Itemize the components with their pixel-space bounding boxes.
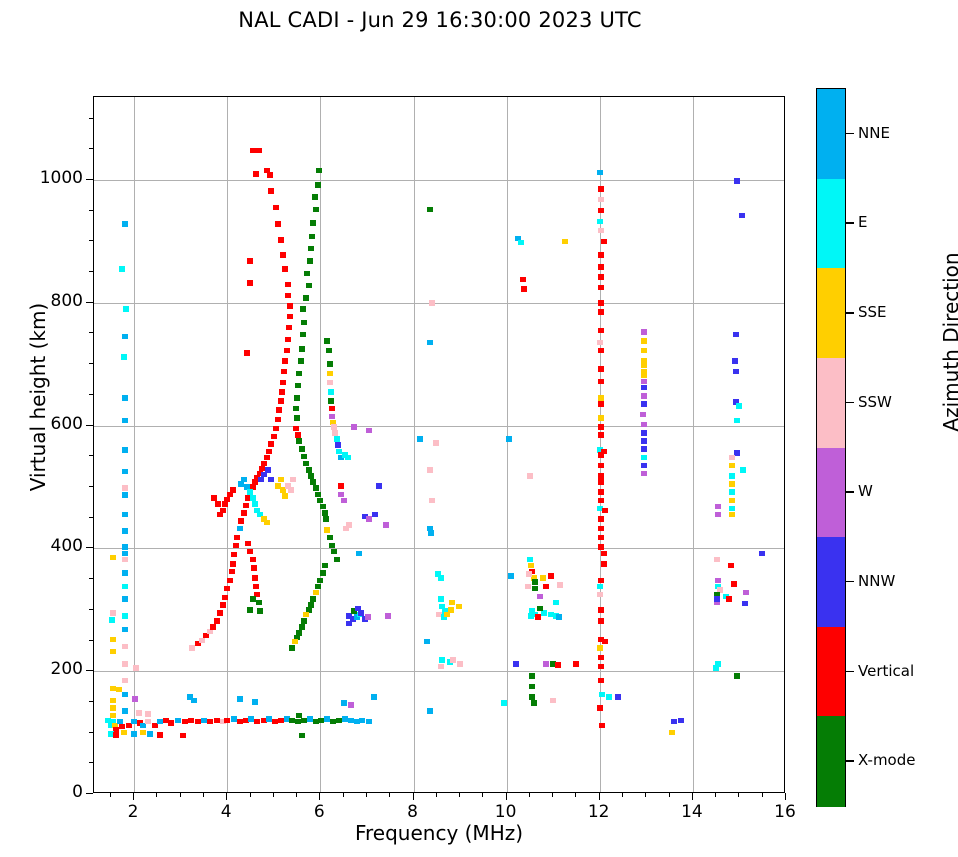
data-point (247, 489, 253, 495)
data-point (641, 379, 647, 385)
x-tick-major (226, 793, 227, 800)
data-point (122, 644, 128, 650)
colorbar (816, 88, 846, 807)
colorbar-segment-ssw[interactable] (817, 358, 845, 448)
colorbar-segment-nnw[interactable] (817, 537, 845, 627)
data-point (323, 516, 329, 522)
x-tick-label: 16 (755, 802, 815, 822)
data-point (548, 573, 554, 579)
data-point (224, 718, 230, 724)
data-point (598, 252, 604, 258)
data-point (527, 473, 533, 479)
data-point (315, 182, 321, 188)
data-point (529, 694, 535, 700)
data-point (598, 395, 604, 401)
y-tick-minor (89, 148, 93, 149)
data-point (429, 300, 435, 306)
data-point (317, 578, 323, 584)
x-axis-label: Frequency (MHz) (93, 821, 785, 845)
data-point (275, 221, 281, 227)
data-point (429, 498, 435, 504)
data-point (598, 348, 604, 354)
data-point (122, 418, 128, 424)
data-point (268, 441, 274, 447)
data-point (598, 678, 604, 684)
x-tick-label: 8 (383, 802, 443, 822)
data-point (122, 584, 128, 590)
data-point (526, 571, 532, 577)
data-point (731, 581, 737, 587)
data-point (543, 661, 549, 667)
colorbar-title: Azimuth Direction (939, 197, 958, 487)
data-point (295, 432, 301, 438)
data-point (598, 473, 604, 479)
x-tick-major (133, 793, 134, 800)
data-point (145, 719, 151, 725)
data-point (299, 346, 305, 352)
x-tick-major (319, 793, 320, 800)
data-point (598, 432, 604, 438)
data-point (598, 516, 604, 522)
data-point (247, 549, 253, 555)
x-tick-label: 2 (103, 802, 163, 822)
data-point (110, 555, 116, 561)
data-point (365, 614, 371, 620)
data-point (237, 526, 243, 532)
data-point (726, 596, 732, 602)
data-point (532, 586, 538, 592)
data-point (238, 518, 244, 524)
y-tick-minor (89, 332, 93, 333)
data-point (168, 720, 174, 726)
colorbar-segment-vertical[interactable] (817, 627, 845, 717)
data-point (641, 446, 647, 452)
data-point (338, 492, 344, 498)
y-tick-minor (89, 762, 93, 763)
x-tick-minor (482, 793, 483, 797)
data-point (303, 295, 309, 301)
data-point (427, 207, 433, 213)
data-point (555, 662, 561, 668)
data-point (157, 732, 163, 738)
data-point (537, 594, 543, 600)
data-point (241, 510, 247, 516)
data-point (264, 455, 270, 461)
y-tick-minor (89, 640, 93, 641)
data-point (598, 379, 604, 385)
data-point (598, 274, 604, 280)
data-point (187, 694, 193, 700)
data-point (299, 624, 305, 630)
data-point (598, 300, 604, 306)
data-point (145, 711, 151, 717)
data-point (122, 596, 128, 602)
x-tick-minor (110, 793, 111, 797)
data-point (556, 614, 562, 620)
data-point (733, 332, 739, 338)
data-point (366, 428, 372, 434)
x-tick-minor (296, 793, 297, 797)
data-point (279, 389, 285, 395)
data-point (278, 477, 284, 483)
data-point (598, 526, 604, 532)
data-point (641, 401, 647, 407)
colorbar-tick (846, 222, 854, 224)
data-point (759, 551, 765, 557)
x-tick-minor (366, 793, 367, 797)
data-point (231, 552, 237, 558)
data-point (110, 610, 116, 616)
data-point (358, 610, 364, 616)
x-tick-minor (273, 793, 274, 797)
data-point (122, 447, 128, 453)
data-point (713, 665, 719, 671)
data-point (211, 495, 217, 501)
x-tick-major (506, 793, 507, 800)
colorbar-tick (846, 581, 854, 583)
data-point (119, 724, 125, 730)
data-point (331, 549, 337, 555)
x-tick-minor (156, 793, 157, 797)
data-point (282, 266, 288, 272)
data-point (329, 414, 335, 420)
data-point (317, 498, 323, 504)
data-point (278, 398, 284, 404)
colorbar-segment-x-mode[interactable] (817, 716, 845, 806)
data-point (276, 407, 282, 413)
data-point (444, 612, 450, 618)
data-point (729, 473, 735, 479)
data-point (734, 178, 740, 184)
data-point (598, 578, 604, 584)
data-point (359, 718, 365, 724)
colorbar-segment-sse[interactable] (817, 268, 845, 358)
data-point (527, 557, 533, 563)
data-point (122, 557, 128, 563)
y-tick-major (86, 425, 93, 426)
data-point (597, 705, 603, 711)
y-tick-minor (89, 394, 93, 395)
y-tick-minor (89, 732, 93, 733)
data-point (220, 602, 226, 608)
data-point (110, 637, 116, 643)
data-point (417, 436, 423, 442)
data-point (133, 665, 139, 671)
x-tick-major (692, 793, 693, 800)
data-point (122, 544, 128, 550)
data-point (306, 283, 312, 289)
data-point (366, 719, 372, 725)
data-point (518, 240, 524, 246)
colorbar-segment-nne[interactable] (817, 89, 845, 179)
data-point (303, 612, 309, 618)
data-point (122, 692, 128, 698)
data-point (282, 358, 288, 364)
data-point (371, 694, 377, 700)
data-point (147, 731, 153, 737)
data-point (328, 389, 334, 395)
data-point (110, 649, 116, 655)
data-point (598, 401, 604, 407)
data-point (252, 575, 258, 581)
data-point (641, 422, 647, 428)
data-point (215, 501, 221, 507)
data-point (290, 477, 296, 483)
data-point (734, 418, 740, 424)
data-point (288, 487, 294, 493)
data-point (501, 700, 507, 706)
x-tick-label: 14 (662, 802, 722, 822)
y-tick-major (86, 179, 93, 180)
data-point (266, 449, 272, 455)
data-point (140, 730, 146, 736)
data-point (253, 171, 259, 177)
data-point (739, 213, 745, 219)
data-point (598, 309, 604, 315)
data-point (715, 578, 721, 584)
data-point (345, 455, 351, 461)
data-point (224, 586, 230, 592)
data-point (729, 512, 735, 518)
data-point (175, 718, 181, 724)
chart-title: NAL CADI - Jun 29 16:30:00 2023 UTC (0, 8, 880, 32)
x-tick-minor (203, 793, 204, 797)
y-tick-label: 0 (13, 782, 83, 802)
data-point (298, 358, 304, 364)
data-point (273, 205, 279, 211)
data-point (313, 207, 319, 213)
data-point (292, 639, 298, 645)
data-point (424, 639, 430, 645)
data-point (598, 463, 604, 469)
data-point (313, 485, 319, 491)
data-point (122, 613, 128, 619)
colorbar-tick (846, 671, 854, 673)
data-point (736, 403, 742, 409)
x-tick-minor (738, 793, 739, 797)
data-point (438, 596, 444, 602)
data-point (296, 713, 302, 719)
y-tick-minor (89, 609, 93, 610)
x-tick-label: 12 (569, 802, 629, 822)
y-axis-label: Virtual height (km) (26, 267, 50, 527)
x-tick-minor (250, 793, 251, 797)
data-point (597, 340, 603, 346)
data-point (234, 535, 240, 541)
data-point (640, 412, 646, 418)
data-point (331, 424, 337, 430)
data-point (301, 618, 307, 624)
x-tick-minor (645, 793, 646, 797)
y-tick-minor (89, 517, 93, 518)
data-point (110, 698, 116, 704)
colorbar-tick (846, 312, 854, 314)
data-point (598, 366, 604, 372)
data-point (251, 565, 257, 571)
data-point (296, 438, 302, 444)
x-tick-minor (529, 793, 530, 797)
data-point (136, 710, 142, 716)
data-point (328, 398, 334, 404)
data-point (310, 596, 316, 602)
data-point (598, 328, 604, 334)
data-point (341, 700, 347, 706)
y-tick-minor (89, 240, 93, 241)
data-point (122, 570, 128, 576)
data-point (264, 520, 270, 526)
x-tick-major (599, 793, 600, 800)
data-point (122, 512, 128, 518)
data-point (598, 607, 604, 613)
data-point (537, 606, 543, 612)
data-point (327, 361, 333, 367)
y-tick-label: 200 (13, 659, 83, 679)
data-point (132, 696, 138, 702)
data-point (285, 293, 291, 299)
data-point (247, 258, 253, 264)
data-point (122, 528, 128, 534)
data-point (245, 541, 251, 547)
x-tick-minor (622, 793, 623, 797)
data-point (334, 436, 340, 442)
data-point (332, 430, 338, 436)
data-point (598, 479, 604, 485)
data-point (122, 469, 128, 475)
data-point (456, 604, 462, 610)
data-point (287, 303, 293, 309)
data-point (122, 661, 128, 667)
data-point (601, 561, 607, 567)
data-point (227, 578, 233, 584)
data-point (562, 239, 568, 245)
data-point (346, 522, 352, 528)
data-point (742, 601, 748, 607)
data-point (252, 501, 258, 507)
data-point (427, 340, 433, 346)
data-point (256, 148, 262, 154)
x-tick-minor (436, 793, 437, 797)
data-point (273, 426, 279, 432)
x-tick-label: 10 (476, 802, 536, 822)
data-point (532, 579, 538, 585)
data-point (261, 461, 267, 467)
data-point (256, 600, 262, 606)
data-point (557, 582, 563, 588)
data-point (322, 563, 328, 569)
data-point (293, 406, 299, 412)
data-point (222, 595, 228, 601)
data-point (110, 705, 116, 711)
data-point (529, 673, 535, 679)
data-point (525, 584, 531, 590)
data-point (601, 551, 607, 557)
data-point (315, 584, 321, 590)
colorbar-segment-w[interactable] (817, 448, 845, 538)
data-point (268, 477, 274, 483)
data-point (261, 472, 267, 478)
data-point (729, 481, 735, 487)
data-point (122, 678, 128, 684)
data-point (598, 264, 604, 270)
data-point (449, 600, 455, 606)
data-point (250, 596, 256, 602)
data-point (301, 454, 307, 460)
data-point (243, 503, 249, 509)
data-point (385, 613, 391, 619)
data-point (601, 239, 607, 245)
x-tick-minor (459, 793, 460, 797)
data-point (299, 446, 305, 452)
data-point (268, 188, 274, 194)
y-tick-minor (89, 271, 93, 272)
data-point (598, 489, 604, 495)
data-point (310, 220, 316, 226)
data-point (123, 306, 129, 312)
data-point (122, 395, 128, 401)
colorbar-segment-e[interactable] (817, 179, 845, 269)
data-point (506, 436, 512, 442)
data-point (641, 455, 647, 461)
x-tick-minor (762, 793, 763, 797)
data-point (327, 371, 333, 377)
data-points-layer (94, 97, 784, 792)
data-point (729, 506, 735, 512)
colorbar-label-w: W (858, 482, 873, 500)
colorbar-tick (846, 760, 854, 762)
data-point (641, 438, 647, 444)
data-point (641, 348, 647, 354)
data-point (597, 584, 603, 590)
y-tick-minor (89, 701, 93, 702)
data-point (300, 306, 306, 312)
data-point (307, 258, 313, 264)
data-point (294, 415, 300, 421)
data-point (304, 271, 310, 277)
data-point (289, 645, 295, 651)
data-point (250, 557, 256, 563)
colorbar-label-nnw: NNW (858, 572, 895, 590)
data-point (327, 380, 333, 386)
data-point (122, 708, 128, 714)
data-point (598, 618, 604, 624)
plot-area (93, 96, 785, 793)
data-point (313, 590, 319, 596)
y-tick-minor (89, 578, 93, 579)
data-point (641, 363, 647, 369)
data-point (247, 607, 253, 613)
data-point (122, 485, 128, 491)
data-point (520, 277, 526, 283)
data-point (113, 732, 119, 738)
data-point (324, 527, 330, 533)
data-point (122, 551, 128, 557)
data-point (327, 535, 333, 541)
data-point (599, 692, 605, 698)
data-point (306, 467, 312, 473)
y-tick-major (86, 547, 93, 548)
data-point (528, 613, 534, 619)
data-point (729, 455, 735, 461)
data-point (597, 170, 603, 176)
data-point (597, 219, 603, 225)
data-point (550, 698, 556, 704)
data-point (598, 208, 604, 214)
y-tick-major (86, 302, 93, 303)
data-point (282, 493, 288, 499)
data-point (528, 563, 534, 569)
data-point (316, 168, 322, 174)
data-point (285, 282, 291, 288)
